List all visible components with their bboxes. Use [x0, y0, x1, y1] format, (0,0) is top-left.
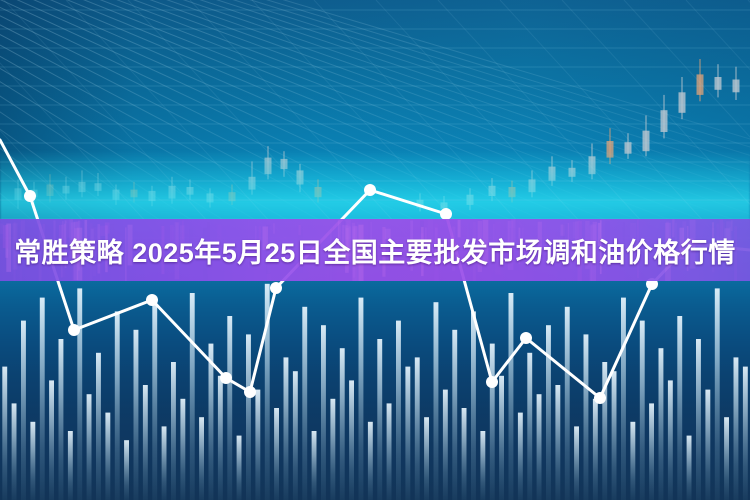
- page-title: 常胜策略 2025年5月25日全国主要批发市场调和油价格行情: [0, 219, 750, 281]
- banner-image: 常胜策略 2025年5月25日全国主要批发市场调和油价格行情: [0, 0, 750, 500]
